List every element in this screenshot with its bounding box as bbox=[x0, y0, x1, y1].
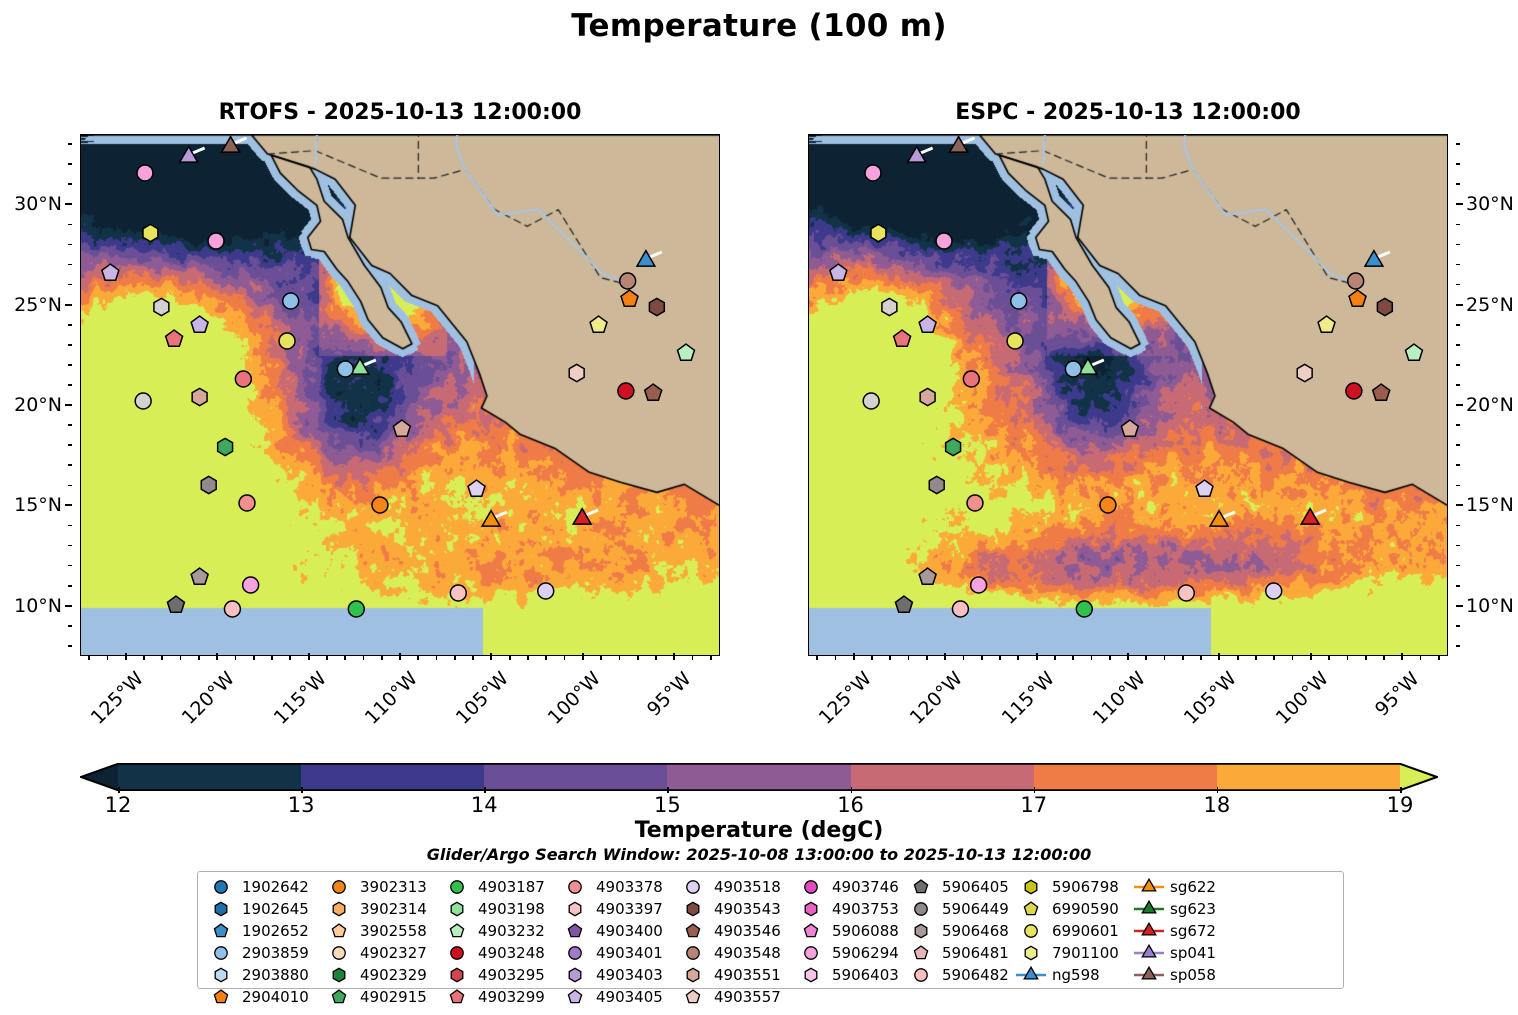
y-minor-tick bbox=[1456, 183, 1460, 185]
platform-marker[interactable] bbox=[167, 596, 184, 612]
legend-item[interactable]: 1902642 bbox=[204, 876, 322, 898]
platform-legend[interactable]: 1902642190264519026522903859290388029040… bbox=[197, 871, 1344, 989]
glider-track bbox=[235, 138, 247, 143]
y-minor-tick bbox=[1456, 264, 1460, 266]
legend-item[interactable]: 3902558 bbox=[322, 920, 440, 942]
x-minor-tick bbox=[963, 656, 965, 660]
platform-marker[interactable] bbox=[224, 601, 240, 617]
legend-marker-icon bbox=[676, 965, 710, 985]
y-minor-tick bbox=[1456, 424, 1460, 426]
x-minor-tick bbox=[545, 656, 547, 660]
y-tick-label: 20°N bbox=[14, 394, 62, 416]
platform-marker[interactable] bbox=[1196, 480, 1213, 496]
x-tick-mark bbox=[1401, 653, 1403, 660]
page-title: Temperature (100 m) bbox=[0, 8, 1518, 44]
x-minor-tick bbox=[107, 656, 109, 660]
legend-label: 4902329 bbox=[356, 966, 427, 984]
legend-item[interactable]: 2903880 bbox=[204, 964, 322, 986]
legend-label: 3902313 bbox=[356, 878, 427, 896]
legend-item[interactable]: 5906468 bbox=[904, 920, 1014, 942]
glider-track bbox=[586, 510, 598, 515]
x-minor-tick bbox=[1292, 656, 1294, 660]
y-minor-tick bbox=[68, 565, 72, 567]
x-minor-tick bbox=[1255, 656, 1257, 660]
y-minor-tick bbox=[68, 264, 72, 266]
x-minor-tick bbox=[1164, 656, 1166, 660]
platform-marker[interactable] bbox=[1297, 364, 1312, 381]
x-minor-tick bbox=[619, 656, 621, 660]
legend-marker-icon bbox=[558, 921, 592, 941]
platform-marker[interactable] bbox=[936, 233, 952, 249]
x-minor-tick bbox=[472, 656, 474, 660]
x-minor-tick bbox=[1017, 656, 1019, 660]
legend-item[interactable]: 1902652 bbox=[204, 920, 322, 942]
legend-marker-icon bbox=[1132, 965, 1166, 985]
legend-marker-icon bbox=[904, 943, 938, 963]
legend-label: sg672 bbox=[1166, 922, 1216, 940]
legend-label: 4903546 bbox=[710, 922, 781, 940]
platform-marker[interactable] bbox=[929, 476, 944, 493]
platform-marker[interactable] bbox=[590, 316, 607, 332]
legend-item[interactable]: 4903403 bbox=[558, 964, 676, 986]
legend-label: 4903397 bbox=[592, 900, 663, 918]
legend-item[interactable]: 4903397 bbox=[558, 898, 676, 920]
x-minor-tick bbox=[600, 656, 602, 660]
longitude-axis-espc: 125°W120°W115°W110°W105°W100°W95°W bbox=[808, 660, 1448, 740]
platform-marker[interactable] bbox=[201, 476, 216, 493]
platform-marker[interactable] bbox=[1373, 384, 1390, 400]
colorbar-over-arrow bbox=[1400, 763, 1438, 791]
legend-item[interactable]: 4903746 bbox=[794, 876, 904, 898]
platform-marker[interactable] bbox=[482, 511, 500, 527]
legend-label: ng598 bbox=[1048, 966, 1100, 984]
y-tick-label: 25°N bbox=[1466, 294, 1514, 316]
platform-marker[interactable] bbox=[222, 137, 240, 153]
legend-item[interactable]: 5906088 bbox=[794, 920, 904, 942]
platform-marker[interactable] bbox=[348, 601, 364, 617]
platform-marker[interactable] bbox=[971, 577, 987, 593]
platform-marker[interactable] bbox=[393, 420, 410, 436]
colorbar-tick-label: 12 bbox=[105, 793, 132, 817]
x-tick-label: 95°W bbox=[635, 668, 696, 729]
x-tick-label: 95°W bbox=[1363, 668, 1424, 729]
platform-marker[interactable] bbox=[645, 384, 662, 400]
legend-marker-icon bbox=[904, 899, 938, 919]
y-minor-tick bbox=[68, 344, 72, 346]
legend-item[interactable]: sp058 bbox=[1132, 964, 1232, 986]
platform-marker[interactable] bbox=[882, 298, 897, 315]
colorbar-tick-label: 15 bbox=[654, 793, 681, 817]
legend-marker-icon bbox=[1014, 965, 1048, 985]
y-minor-tick bbox=[1456, 444, 1460, 446]
platform-marker[interactable] bbox=[283, 293, 299, 309]
platform-marker[interactable] bbox=[218, 438, 233, 455]
x-minor-tick bbox=[1383, 656, 1385, 660]
platform-marker[interactable] bbox=[830, 264, 847, 280]
legend-item[interactable]: 4903546 bbox=[676, 920, 794, 942]
y-tick-label: 30°N bbox=[1466, 193, 1514, 215]
legend-item[interactable]: 2904010 bbox=[204, 986, 322, 1008]
colorbar-tick-label: 13 bbox=[288, 793, 315, 817]
legend-label: 3902314 bbox=[356, 900, 427, 918]
glider-track bbox=[495, 512, 507, 517]
x-minor-tick bbox=[1200, 656, 1202, 660]
legend-marker-icon bbox=[676, 899, 710, 919]
legend-marker-icon bbox=[1014, 899, 1048, 919]
legend-label: 4902327 bbox=[356, 944, 427, 962]
legend-marker-icon bbox=[676, 987, 710, 1007]
legend-marker-icon bbox=[558, 899, 592, 919]
legend-item[interactable]: 4902915 bbox=[322, 986, 440, 1008]
platform-marker[interactable] bbox=[538, 583, 554, 599]
x-minor-tick bbox=[835, 656, 837, 660]
platform-marker[interactable] bbox=[637, 251, 655, 267]
x-minor-tick bbox=[253, 656, 255, 660]
colorbar-axis-label: Temperature (degC) bbox=[0, 818, 1518, 843]
y-minor-tick bbox=[68, 224, 72, 226]
legend-item[interactable]: 4903518 bbox=[676, 876, 794, 898]
platform-marker[interactable] bbox=[1346, 383, 1362, 399]
legend-column: 49037464903753590608859062945906403 bbox=[794, 876, 904, 1008]
platform-marker[interactable] bbox=[208, 233, 224, 249]
x-tick-mark bbox=[1127, 653, 1129, 660]
legend-marker-icon bbox=[440, 987, 474, 1007]
legend-item[interactable]: 4903187 bbox=[440, 876, 558, 898]
platform-marker[interactable] bbox=[895, 596, 912, 612]
legend-marker-icon bbox=[204, 877, 238, 897]
platform-marker[interactable] bbox=[1178, 585, 1194, 601]
y-tick-mark bbox=[1456, 605, 1463, 607]
legend-item[interactable]: 4903543 bbox=[676, 898, 794, 920]
platform-marker[interactable] bbox=[166, 330, 183, 346]
legend-marker-icon bbox=[440, 899, 474, 919]
platform-marker[interactable] bbox=[946, 438, 961, 455]
colorbar-tick-mark bbox=[1034, 787, 1036, 793]
platform-marker[interactable] bbox=[908, 147, 926, 163]
colorbar-tick-label: 14 bbox=[471, 793, 498, 817]
legend-label: sp058 bbox=[1166, 966, 1216, 984]
espc-map-panel[interactable] bbox=[808, 134, 1448, 656]
platform-marker[interactable] bbox=[137, 165, 153, 181]
platform-marker[interactable] bbox=[1121, 420, 1138, 436]
glider-track bbox=[364, 360, 376, 365]
legend-label: 5906482 bbox=[938, 966, 1009, 984]
legend-item[interactable]: 4903551 bbox=[676, 964, 794, 986]
y-minor-tick bbox=[68, 444, 72, 446]
legend-label: 5906403 bbox=[828, 966, 899, 984]
colorbar-band bbox=[118, 763, 301, 791]
platform-marker[interactable] bbox=[1377, 298, 1392, 315]
legend-item[interactable]: 5906403 bbox=[794, 964, 904, 986]
legend-item[interactable]: 5906482 bbox=[904, 964, 1014, 986]
platform-marker[interactable] bbox=[1365, 251, 1383, 267]
x-minor-tick bbox=[564, 656, 566, 660]
y-minor-tick bbox=[68, 545, 72, 547]
legend-label: 5906449 bbox=[938, 900, 1009, 918]
x-tick-label: 125°W bbox=[86, 668, 147, 729]
platform-marker[interactable] bbox=[1301, 509, 1319, 525]
legend-item[interactable]: 4903295 bbox=[440, 964, 558, 986]
platform-marker[interactable] bbox=[569, 364, 584, 381]
platform-marker[interactable] bbox=[950, 137, 968, 153]
legend-label: 4903551 bbox=[710, 966, 781, 984]
platform-marker[interactable] bbox=[102, 264, 119, 280]
legend-marker-icon bbox=[204, 987, 238, 1007]
rtofs-map-panel[interactable] bbox=[80, 134, 720, 656]
legend-marker-icon bbox=[676, 877, 710, 897]
platform-marker[interactable] bbox=[1210, 511, 1228, 527]
x-minor-tick bbox=[889, 656, 891, 660]
y-tick-mark bbox=[1456, 504, 1463, 506]
platform-marker[interactable] bbox=[967, 495, 983, 511]
y-minor-tick bbox=[68, 183, 72, 185]
legend-label: sg622 bbox=[1166, 878, 1216, 896]
legend-label: 2904010 bbox=[238, 988, 309, 1006]
colorbar-tick-label: 16 bbox=[837, 793, 864, 817]
x-minor-tick bbox=[871, 656, 873, 660]
x-minor-tick bbox=[143, 656, 145, 660]
x-tick-label: 100°W bbox=[1272, 668, 1333, 729]
legend-label: 7901100 bbox=[1048, 944, 1119, 962]
legend-item[interactable]: 4903401 bbox=[558, 942, 676, 964]
y-tick-label: 30°N bbox=[14, 193, 62, 215]
legend-item[interactable]: sg623 bbox=[1132, 898, 1232, 920]
y-minor-tick bbox=[1456, 464, 1460, 466]
x-minor-tick bbox=[161, 656, 163, 660]
x-minor-tick bbox=[454, 656, 456, 660]
legend-item[interactable]: 5906798 bbox=[1014, 876, 1132, 898]
platform-marker[interactable] bbox=[154, 298, 169, 315]
y-minor-tick bbox=[1456, 565, 1460, 567]
legend-item[interactable]: 4903232 bbox=[440, 920, 558, 942]
y-minor-tick bbox=[1456, 364, 1460, 366]
platform-marker[interactable] bbox=[1348, 273, 1364, 289]
legend-item[interactable]: 5906405 bbox=[904, 876, 1014, 898]
x-tick-mark bbox=[125, 653, 127, 660]
legend-marker-icon bbox=[676, 943, 710, 963]
platform-marker[interactable] bbox=[621, 290, 638, 306]
platform-marker[interactable] bbox=[468, 480, 485, 496]
glider-track bbox=[1378, 252, 1390, 257]
colorbar-tick-mark bbox=[1400, 787, 1402, 793]
legend-item[interactable]: 4903548 bbox=[676, 942, 794, 964]
legend-item[interactable]: 4903198 bbox=[440, 898, 558, 920]
y-minor-tick bbox=[1456, 384, 1460, 386]
legend-item[interactable]: 5906294 bbox=[794, 942, 904, 964]
platform-marker[interactable] bbox=[191, 568, 208, 584]
colorbar-band bbox=[851, 763, 1034, 791]
platform-marker[interactable] bbox=[279, 333, 295, 349]
legend-marker-icon bbox=[322, 899, 356, 919]
legend-item[interactable]: 4903405 bbox=[558, 986, 676, 1008]
legend-item[interactable]: 1902645 bbox=[204, 898, 322, 920]
y-tick-label: 25°N bbox=[14, 294, 62, 316]
colorbar-tick-mark bbox=[1217, 787, 1219, 793]
platform-marker[interactable] bbox=[191, 316, 208, 332]
legend-item[interactable]: 4903557 bbox=[676, 986, 794, 1008]
platform-marker[interactable] bbox=[963, 371, 979, 387]
x-minor-tick bbox=[180, 656, 182, 660]
glider-track bbox=[921, 148, 933, 153]
colorbar-tick-labels: 1213141516171819 bbox=[80, 793, 1438, 819]
legend-label: sg623 bbox=[1166, 900, 1216, 918]
platform-marker[interactable] bbox=[1100, 497, 1116, 513]
y-minor-tick bbox=[1456, 645, 1460, 647]
legend-label: 5906405 bbox=[938, 878, 1009, 896]
platform-marker[interactable] bbox=[620, 273, 636, 289]
platform-marker[interactable] bbox=[337, 361, 353, 377]
x-minor-tick bbox=[381, 656, 383, 660]
platform-marker[interactable] bbox=[894, 330, 911, 346]
platform-marker[interactable] bbox=[871, 224, 886, 241]
y-tick-mark bbox=[65, 203, 72, 205]
legend-label: 6990590 bbox=[1048, 900, 1119, 918]
x-minor-tick bbox=[999, 656, 1001, 660]
platform-marker[interactable] bbox=[135, 393, 151, 409]
legend-item[interactable]: 5906481 bbox=[904, 942, 1014, 964]
colorbar-tick-mark bbox=[118, 787, 120, 793]
colorbar-band bbox=[301, 763, 484, 791]
espc-platform-markers bbox=[809, 135, 1447, 655]
longitude-axis-rtofs: 125°W120°W115°W110°W105°W100°W95°W bbox=[80, 660, 720, 740]
y-minor-tick bbox=[68, 324, 72, 326]
legend-marker-icon bbox=[1014, 877, 1048, 897]
x-minor-tick bbox=[198, 656, 200, 660]
platform-marker[interactable] bbox=[649, 298, 664, 315]
y-minor-tick bbox=[68, 585, 72, 587]
x-minor-tick bbox=[1072, 656, 1074, 660]
x-tick-mark bbox=[216, 653, 218, 660]
platform-marker[interactable] bbox=[450, 585, 466, 601]
glider-track bbox=[650, 252, 662, 257]
legend-marker-icon bbox=[1014, 943, 1048, 963]
y-tick-mark bbox=[1456, 404, 1463, 406]
legend-item[interactable]: sp041 bbox=[1132, 942, 1232, 964]
legend-item[interactable]: 4903299 bbox=[440, 986, 558, 1008]
platform-marker[interactable] bbox=[1011, 293, 1027, 309]
platform-marker[interactable] bbox=[143, 224, 158, 241]
platform-marker[interactable] bbox=[235, 371, 251, 387]
platform-marker[interactable] bbox=[919, 316, 936, 332]
platform-marker[interactable] bbox=[677, 344, 694, 360]
platform-marker[interactable] bbox=[573, 509, 591, 525]
y-minor-tick bbox=[1456, 163, 1460, 165]
legend-marker-icon bbox=[1014, 921, 1048, 941]
legend-marker-icon bbox=[440, 921, 474, 941]
legend-label: 1902652 bbox=[238, 922, 309, 940]
y-minor-tick bbox=[68, 384, 72, 386]
platform-marker[interactable] bbox=[192, 388, 207, 405]
y-tick-mark bbox=[65, 304, 72, 306]
legend-label: 4903400 bbox=[592, 922, 663, 940]
y-minor-tick bbox=[68, 464, 72, 466]
glider-track bbox=[193, 148, 205, 153]
legend-label: 5906088 bbox=[828, 922, 899, 940]
y-minor-tick bbox=[68, 284, 72, 286]
platform-marker[interactable] bbox=[1007, 333, 1023, 349]
legend-item[interactable]: 4903248 bbox=[440, 942, 558, 964]
glider-track bbox=[1092, 360, 1104, 365]
legend-marker-icon bbox=[1132, 877, 1166, 897]
y-tick-label: 10°N bbox=[1466, 595, 1514, 617]
platform-marker[interactable] bbox=[239, 495, 255, 511]
platform-marker[interactable] bbox=[1076, 601, 1092, 617]
platform-marker[interactable] bbox=[1405, 344, 1422, 360]
colorbar-tick-mark bbox=[851, 787, 853, 793]
x-tick-label: 120°W bbox=[178, 668, 239, 729]
legend-item[interactable]: 4902327 bbox=[322, 942, 440, 964]
legend-marker-icon bbox=[440, 943, 474, 963]
platform-marker[interactable] bbox=[1349, 290, 1366, 306]
legend-item[interactable]: 3902314 bbox=[322, 898, 440, 920]
platform-marker[interactable] bbox=[372, 497, 388, 513]
legend-item[interactable]: sg622 bbox=[1132, 876, 1232, 898]
x-minor-tick bbox=[527, 656, 529, 660]
y-minor-tick bbox=[68, 485, 72, 487]
x-minor-tick bbox=[908, 656, 910, 660]
platform-marker[interactable] bbox=[863, 393, 879, 409]
colorbar-bands bbox=[118, 763, 1400, 791]
legend-item[interactable]: 7901100 bbox=[1014, 942, 1132, 964]
legend-column: 1902642190264519026522903859290388029040… bbox=[204, 876, 322, 1008]
platform-marker[interactable] bbox=[618, 383, 634, 399]
x-tick-label: 105°W bbox=[452, 668, 513, 729]
platform-marker[interactable] bbox=[865, 165, 881, 181]
legend-label: 2903859 bbox=[238, 944, 309, 962]
legend-item[interactable]: 6990590 bbox=[1014, 898, 1132, 920]
legend-item[interactable]: 6990601 bbox=[1014, 920, 1132, 942]
legend-marker-icon bbox=[794, 965, 828, 985]
platform-marker[interactable] bbox=[952, 601, 968, 617]
platform-marker[interactable] bbox=[1318, 316, 1335, 332]
x-minor-tick bbox=[1237, 656, 1239, 660]
platform-marker[interactable] bbox=[920, 388, 935, 405]
legend-label: 5906294 bbox=[828, 944, 899, 962]
legend-item[interactable]: 2903859 bbox=[204, 942, 322, 964]
legend-item[interactable]: 4902329 bbox=[322, 964, 440, 986]
legend-item[interactable]: 4903400 bbox=[558, 920, 676, 942]
x-minor-tick bbox=[816, 656, 818, 660]
legend-marker-icon bbox=[322, 943, 356, 963]
legend-column: 3902313390231439025584902327490232949029… bbox=[322, 876, 440, 1008]
legend-item[interactable]: 5906449 bbox=[904, 898, 1014, 920]
y-minor-tick bbox=[1456, 324, 1460, 326]
x-minor-tick bbox=[271, 656, 273, 660]
legend-item[interactable]: ng598 bbox=[1014, 964, 1132, 986]
platform-marker[interactable] bbox=[243, 577, 259, 593]
legend-item[interactable]: 4903378 bbox=[558, 876, 676, 898]
x-minor-tick bbox=[1365, 656, 1367, 660]
legend-marker-icon bbox=[1132, 943, 1166, 963]
platform-marker[interactable] bbox=[180, 147, 198, 163]
legend-marker-icon bbox=[440, 877, 474, 897]
legend-marker-icon bbox=[904, 877, 938, 897]
x-tick-label: 115°W bbox=[269, 668, 330, 729]
legend-marker-icon bbox=[204, 899, 238, 919]
platform-marker[interactable] bbox=[919, 568, 936, 584]
legend-item[interactable]: 3902313 bbox=[322, 876, 440, 898]
y-minor-tick bbox=[1456, 244, 1460, 246]
y-tick-label: 15°N bbox=[1466, 494, 1514, 516]
platform-marker[interactable] bbox=[1065, 361, 1081, 377]
legend-label: 4903248 bbox=[474, 944, 545, 962]
legend-item[interactable]: 4903753 bbox=[794, 898, 904, 920]
legend-item[interactable]: sg672 bbox=[1132, 920, 1232, 942]
colorbar-tick-mark bbox=[301, 787, 303, 793]
x-minor-tick bbox=[655, 656, 657, 660]
x-minor-tick bbox=[1420, 656, 1422, 660]
platform-marker[interactable] bbox=[1266, 583, 1282, 599]
